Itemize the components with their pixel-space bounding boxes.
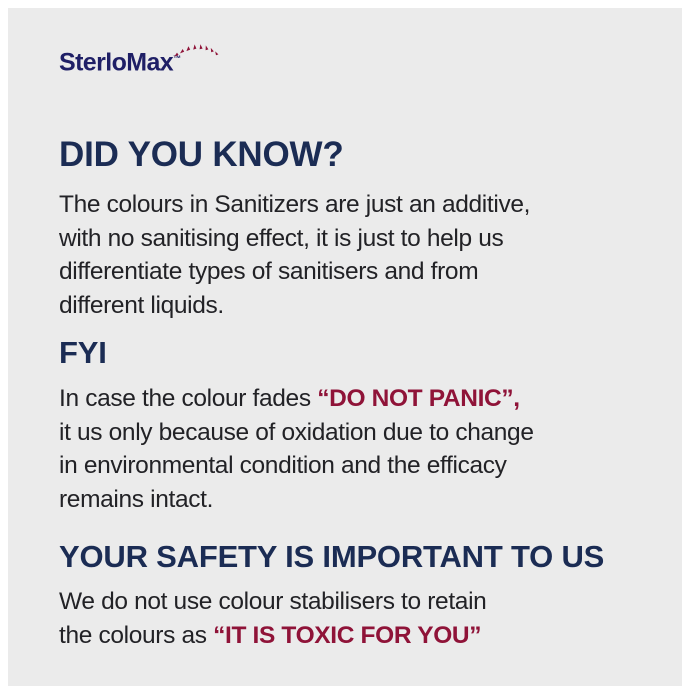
- body-line: the colours as: [59, 622, 213, 649]
- brand-wordmark: SterloMax™: [59, 44, 181, 77]
- did-you-know-heading: DID YOU KNOW?: [59, 135, 344, 175]
- body-line: differentiate types of sanitisers and fr…: [59, 258, 478, 285]
- toxic-warning-emphasis: “IT IS TOXIC FOR YOU”: [213, 622, 481, 649]
- safety-heading: YOUR SAFETY IS IMPORTANT TO US: [59, 539, 604, 575]
- trademark-icon: ™: [173, 54, 181, 63]
- brand-logo: SterloMax™: [59, 44, 279, 80]
- safety-body: We do not use colour stabilisers to reta…: [59, 585, 639, 652]
- body-line: The colours in Sanitizers are just an ad…: [59, 191, 530, 218]
- body-line: in environmental condition and the effic…: [59, 452, 507, 479]
- infographic-card: SterloMax™ DID YOU KNOW? The colours in …: [8, 8, 682, 686]
- body-line: We do not use colour stabilisers to reta…: [59, 588, 486, 615]
- body-line: different liquids.: [59, 292, 224, 319]
- did-you-know-body: The colours in Sanitizers are just an ad…: [59, 188, 639, 322]
- body-line: remains intact.: [59, 486, 213, 513]
- fyi-heading: FYI: [59, 335, 107, 371]
- do-not-panic-emphasis: “DO NOT PANIC”,: [317, 385, 520, 412]
- fyi-body: In case the colour fades “DO NOT PANIC”,…: [59, 382, 649, 516]
- body-line: In case the colour fades: [59, 385, 317, 412]
- brand-name-text: SterloMax: [59, 48, 173, 76]
- body-line: with no sanitising effect, it is just to…: [59, 225, 503, 252]
- body-line: it us only because of oxidation due to c…: [59, 419, 534, 446]
